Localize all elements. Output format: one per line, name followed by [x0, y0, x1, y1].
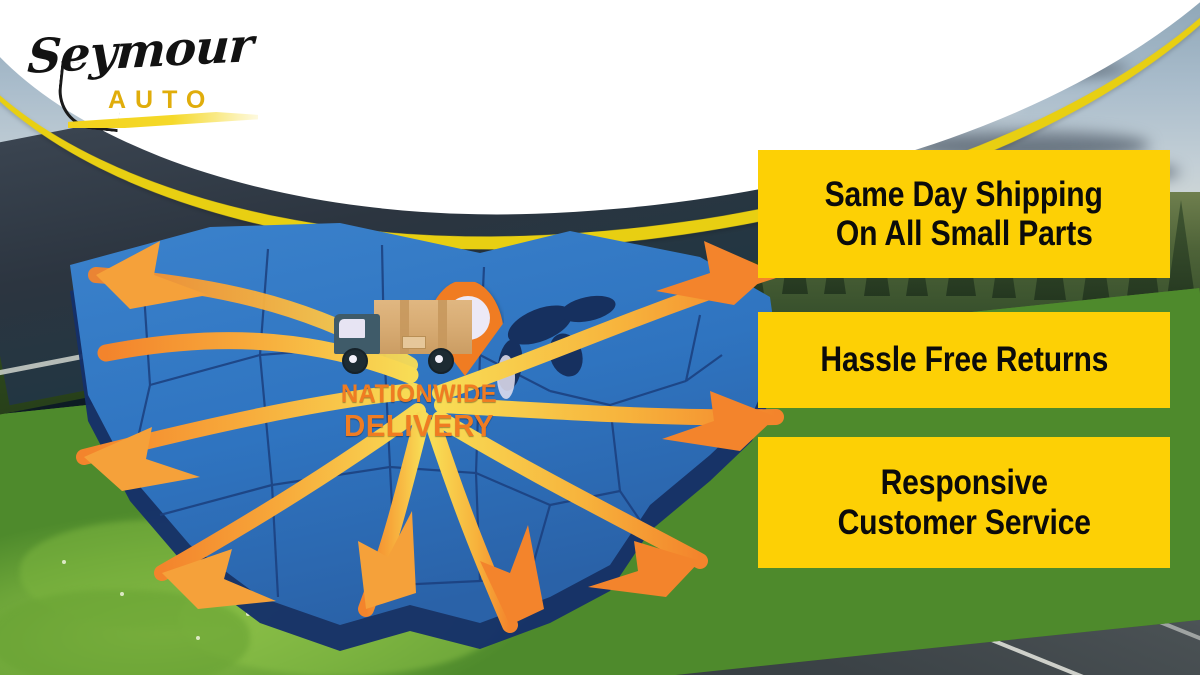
- nationwide-delivery-badge: NATIONWIDE DELIVERY: [320, 278, 520, 448]
- delivery-truck-icon: [320, 300, 480, 376]
- callout-line: On All Small Parts: [836, 214, 1093, 253]
- truck-wheel: [428, 348, 454, 374]
- callout-line: Customer Service: [837, 503, 1090, 542]
- callout-responsive-customer-service[interactable]: Responsive Customer Service: [758, 437, 1170, 568]
- badge-text: NATIONWIDE DELIVERY: [324, 382, 514, 441]
- logo-subtext: AUTO: [108, 86, 214, 115]
- promo-banner: Seymour AUTO: [0, 0, 1200, 675]
- badge-line-2: DELIVERY: [329, 410, 510, 441]
- logo-script-text: Seymour: [26, 18, 254, 85]
- callout-hassle-free-returns[interactable]: Hassle Free Returns: [758, 312, 1170, 408]
- brand-logo[interactable]: Seymour AUTO: [28, 24, 258, 129]
- callout-line: Responsive: [880, 463, 1047, 502]
- box-tape: [438, 300, 447, 354]
- badge-line-1: NATIONWIDE: [329, 382, 510, 407]
- truck-wheel: [342, 348, 368, 374]
- box-label: [402, 336, 426, 349]
- callout-line: Hassle Free Returns: [820, 340, 1108, 379]
- truck-window: [339, 319, 365, 338]
- callout-line: Same Day Shipping: [825, 175, 1103, 214]
- callout-same-day-shipping[interactable]: Same Day Shipping On All Small Parts: [758, 150, 1170, 278]
